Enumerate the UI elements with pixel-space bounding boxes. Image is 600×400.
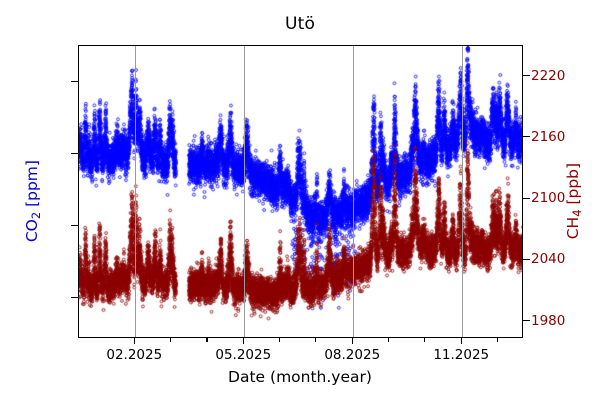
y-tick-mark-co2 <box>71 297 78 298</box>
y-axis-label-right: CH4 [ppb] <box>564 106 584 296</box>
co2-label-text: CO2 [ppm] <box>23 160 41 242</box>
x-minor-tick-mark <box>388 338 389 342</box>
x-tick-mark <box>134 338 135 344</box>
x-gridline <box>462 46 463 337</box>
y-tick-label-ch4: 2220 <box>531 68 591 84</box>
x-gridline <box>353 46 354 337</box>
x-tick-mark <box>352 338 353 344</box>
x-minor-tick-mark <box>170 338 171 342</box>
x-minor-tick-mark <box>279 338 280 342</box>
chart-title: Utö <box>0 14 600 34</box>
y-tick-mark-ch4 <box>523 198 530 199</box>
x-axis-label: Date (month.year) <box>0 368 600 386</box>
y-tick-mark-ch4 <box>523 259 530 260</box>
x-tick-mark <box>461 338 462 344</box>
y-axis-label-left: CO2 [ppm] <box>23 106 43 296</box>
y-tick-mark-ch4 <box>523 75 530 76</box>
y-tick-mark-co2 <box>71 153 78 154</box>
y-tick-label-ch4: 1980 <box>531 313 591 329</box>
x-gridline <box>244 46 245 337</box>
x-tick-label: 05.2025 <box>198 347 288 363</box>
x-tick-label: 02.2025 <box>89 347 179 363</box>
y-tick-mark-ch4 <box>523 136 530 137</box>
x-tick-mark <box>243 338 244 344</box>
x-minor-tick-mark <box>315 338 316 342</box>
y-tick-mark-co2 <box>71 81 78 82</box>
x-gridline <box>135 46 136 337</box>
figure: Utö 4054204354501980204021002160222002.2… <box>0 0 600 400</box>
y-tick-mark-ch4 <box>523 320 530 321</box>
x-minor-tick-mark <box>497 338 498 342</box>
ch4-label-text: CH4 [ppb] <box>564 163 582 239</box>
x-tick-label: 08.2025 <box>307 347 397 363</box>
x-minor-tick-mark <box>206 338 207 342</box>
x-minor-tick-mark <box>424 338 425 342</box>
x-tick-label: 11.2025 <box>416 347 506 363</box>
scatter-canvas <box>79 46 523 338</box>
plot-area <box>78 45 523 338</box>
y-tick-mark-co2 <box>71 225 78 226</box>
